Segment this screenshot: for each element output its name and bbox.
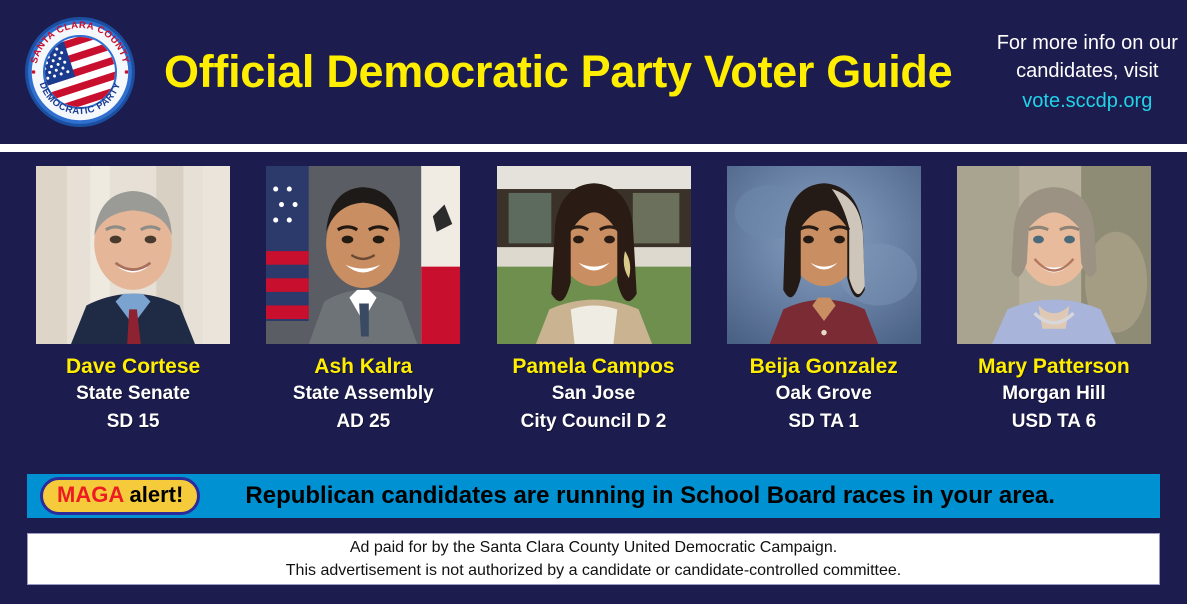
maga-alert-banner: MAGA alert! Republican candidates are ru… — [27, 474, 1160, 518]
candidate-district: SD 15 — [107, 410, 160, 435]
maga-alert-message: Republican candidates are running in Sch… — [200, 482, 1160, 510]
header-divider — [0, 144, 1187, 152]
candidate-office: Oak Grove — [776, 382, 872, 407]
candidate-card[interactable]: Beija Gonzalez Oak Grove SD TA 1 — [709, 166, 939, 435]
disclaimer-box: Ad paid for by the Santa Clara County Un… — [27, 533, 1160, 585]
candidate-district: City Council D 2 — [521, 410, 667, 435]
page-title: Official Democratic Party Voter Guide — [138, 48, 952, 95]
candidate-photo-pamela-campos — [497, 166, 691, 344]
ad-header: SANTA CLARA COUNTY DEMOCRATIC PARTY Offi… — [0, 0, 1187, 144]
candidate-district: USD TA 6 — [1012, 410, 1096, 435]
sccdp-seal-icon: SANTA CLARA COUNTY DEMOCRATIC PARTY — [22, 14, 138, 130]
candidate-name: Dave Cortese — [66, 355, 200, 379]
candidate-card[interactable]: Ash Kalra State Assembly AD 25 — [248, 166, 478, 435]
disclaimer-line-2: This advertisement is not authorized by … — [286, 561, 901, 580]
candidate-photo-dave-cortese — [36, 166, 230, 344]
candidate-name: Beija Gonzalez — [750, 355, 898, 379]
candidate-photo-beija-gonzalez — [727, 166, 921, 344]
candidate-name: Mary Patterson — [978, 355, 1130, 379]
candidate-name: Ash Kalra — [314, 355, 412, 379]
info-line-2: candidates, visit — [1016, 60, 1158, 82]
candidate-grid: Dave Cortese State Senate SD 15 — [0, 152, 1187, 435]
candidate-office: Morgan Hill — [1002, 382, 1105, 407]
more-info-block: For more info on our candidates, visit v… — [952, 29, 1187, 115]
candidate-photo-ash-kalra — [266, 166, 460, 344]
candidate-card[interactable]: Mary Patterson Morgan Hill USD TA 6 — [939, 166, 1169, 435]
candidate-office: State Assembly — [293, 382, 434, 407]
candidate-district: AD 25 — [336, 410, 390, 435]
voter-guide-ad: SANTA CLARA COUNTY DEMOCRATIC PARTY Offi… — [0, 0, 1187, 604]
maga-alert-badge: MAGA alert! — [40, 477, 200, 514]
candidate-photo-mary-patterson — [957, 166, 1151, 344]
candidate-card[interactable]: Dave Cortese State Senate SD 15 — [18, 166, 248, 435]
candidate-card[interactable]: Pamela Campos San Jose City Council D 2 — [478, 166, 708, 435]
info-line-1: For more info on our — [997, 32, 1178, 54]
website-link[interactable]: vote.sccdp.org — [952, 87, 1187, 115]
candidate-office: State Senate — [76, 382, 190, 407]
candidate-district: SD TA 1 — [788, 410, 859, 435]
disclaimer-line-1: Ad paid for by the Santa Clara County Un… — [350, 538, 837, 557]
maga-badge-maga-text: MAGA — [57, 482, 123, 507]
candidate-office: San Jose — [552, 382, 635, 407]
maga-badge-alert-text: alert! — [130, 482, 184, 507]
candidate-name: Pamela Campos — [512, 355, 674, 379]
